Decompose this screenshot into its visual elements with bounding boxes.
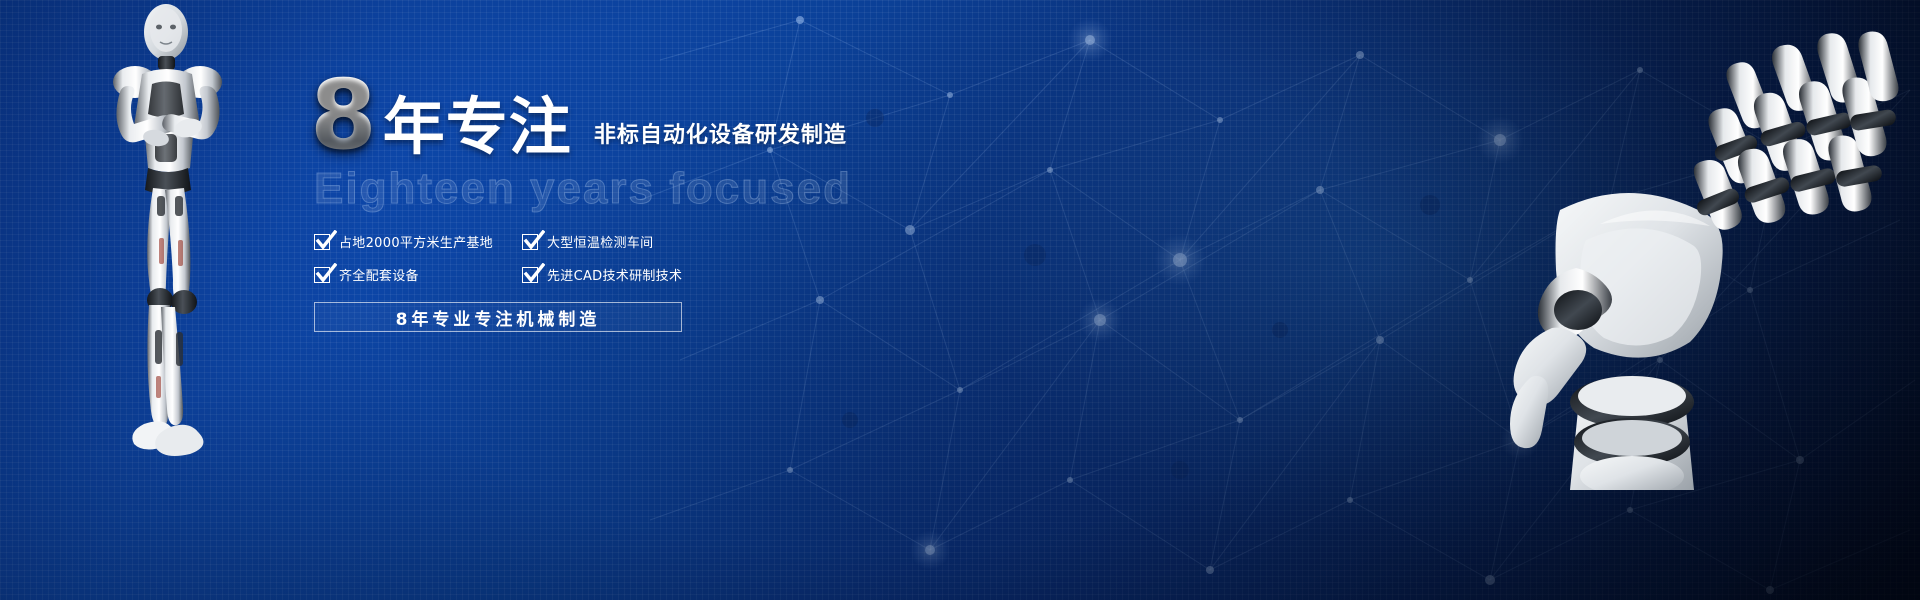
checkmark-icon bbox=[314, 234, 330, 250]
feature-label: 大型恒温检测车间 bbox=[547, 232, 653, 251]
checkmark-icon bbox=[522, 267, 538, 283]
slogan-box: 8年专业专注机械制造 bbox=[314, 302, 682, 332]
feature-item-workshop: 大型恒温检测车间 bbox=[522, 232, 752, 251]
hero-banner: 8 年专注 非标自动化设备研发制造 Eighteen years focused… bbox=[0, 0, 1920, 600]
feature-label: 先进CAD技术研制技术 bbox=[547, 265, 682, 284]
headline-english: Eighteen years focused bbox=[314, 164, 930, 214]
humanoid-robot-figure bbox=[60, 0, 280, 490]
headline-subtitle: 非标自动化设备研发制造 bbox=[594, 117, 847, 149]
years-number: 8 bbox=[310, 72, 375, 158]
checkmark-icon bbox=[522, 234, 538, 250]
feature-list: 占地2000平方米生产基地 大型恒温检测车间 齐全配套设备 bbox=[314, 232, 930, 284]
checkmark-icon bbox=[314, 267, 330, 283]
headline-row: 8 年专注 非标自动化设备研发制造 bbox=[310, 72, 930, 158]
banner-content: 8 年专注 非标自动化设备研发制造 Eighteen years focused… bbox=[310, 72, 930, 332]
feature-item-area: 占地2000平方米生产基地 bbox=[314, 232, 522, 251]
feature-item-cad: 先进CAD技术研制技术 bbox=[522, 265, 752, 284]
headline-chinese: 年专注 bbox=[383, 92, 572, 162]
slogan-text: 8年专业专注机械制造 bbox=[396, 305, 601, 330]
feature-label: 占地2000平方米生产基地 bbox=[339, 232, 493, 251]
feature-label: 齐全配套设备 bbox=[339, 265, 419, 284]
feature-item-equipment: 齐全配套设备 bbox=[314, 265, 522, 284]
robotic-hand-figure bbox=[1400, 10, 1920, 490]
